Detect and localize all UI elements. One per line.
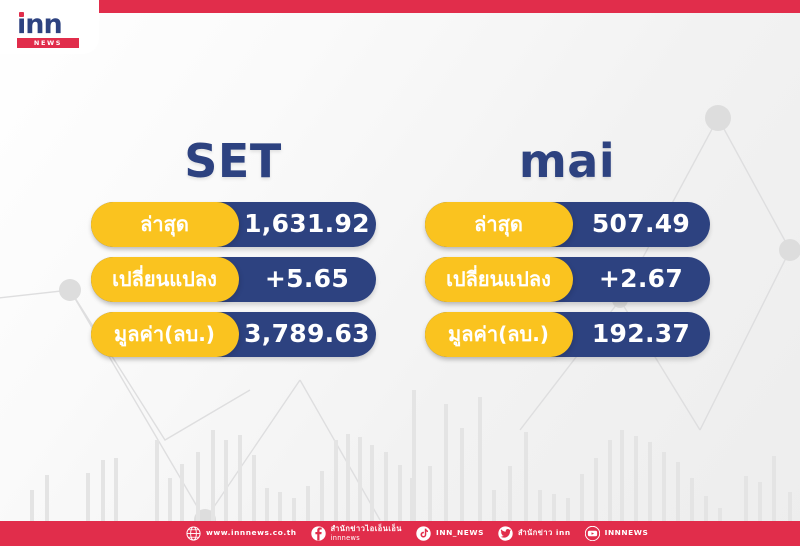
twitter-icon xyxy=(498,526,513,541)
indices-container: SET ล่าสุด 1,631.92 เปลี่ยนแปลง +5.65 มู… xyxy=(0,54,800,521)
set-value-value: 3,789.63 xyxy=(239,312,376,357)
logo-dot-icon xyxy=(19,12,24,17)
index-block-set: SET ล่าสุด 1,631.92 เปลี่ยนแปลง +5.65 มู… xyxy=(88,136,378,521)
footer-social-bar: www.innnews.co.th สำนักข่าวไอเอ็นเอ็นinn… xyxy=(0,521,800,546)
logo-plate: inn NEWS xyxy=(0,0,99,54)
logo-wordmark: inn xyxy=(17,13,79,37)
social-facebook-label: สำนักข่าวไอเอ็นเอ็นinnnews xyxy=(331,525,402,542)
inn-news-logo: inn NEWS xyxy=(17,13,79,46)
social-twitter[interactable]: สำนักข่าว inn xyxy=(498,521,571,546)
social-facebook[interactable]: สำนักข่าวไอเอ็นเอ็นinnnews xyxy=(311,521,402,546)
mai-label-value: มูลค่า(ลบ.) xyxy=(425,312,573,357)
mai-row-change: เปลี่ยนแปลง +2.67 xyxy=(425,257,710,302)
social-tiktok[interactable]: INN_NEWS xyxy=(416,521,484,546)
mai-value-value: 192.37 xyxy=(573,312,710,357)
social-youtube[interactable]: INNNEWS xyxy=(585,521,649,546)
social-website-label: www.innnews.co.th xyxy=(206,529,297,538)
social-twitter-label: สำนักข่าว inn xyxy=(518,529,571,538)
mai-row-value: มูลค่า(ลบ.) 192.37 xyxy=(425,312,710,357)
index-title-set: SET xyxy=(184,136,281,186)
market-summary-card: inn NEWS SET ล่าสุด 1,631.92 เปลี่ยนแปลง… xyxy=(0,0,800,546)
set-label-change: เปลี่ยนแปลง xyxy=(91,257,239,302)
youtube-icon xyxy=(585,526,600,541)
globe-icon xyxy=(186,526,201,541)
social-website[interactable]: www.innnews.co.th xyxy=(186,521,297,546)
set-row-last: ล่าสุด 1,631.92 xyxy=(91,202,376,247)
facebook-icon xyxy=(311,526,326,541)
tiktok-icon xyxy=(416,526,431,541)
set-label-last: ล่าสุด xyxy=(91,202,239,247)
social-youtube-label: INNNEWS xyxy=(605,529,649,538)
set-row-value: มูลค่า(ลบ.) 3,789.63 xyxy=(91,312,376,357)
set-label-value: มูลค่า(ลบ.) xyxy=(91,312,239,357)
mai-label-change: เปลี่ยนแปลง xyxy=(425,257,573,302)
social-tiktok-label: INN_NEWS xyxy=(436,529,484,538)
mai-label-last: ล่าสุด xyxy=(425,202,573,247)
set-value-change: +5.65 xyxy=(239,257,376,302)
top-accent-bar xyxy=(0,0,800,13)
set-row-change: เปลี่ยนแปลง +5.65 xyxy=(91,257,376,302)
set-value-last: 1,631.92 xyxy=(239,202,376,247)
social-facebook-sublabel: innnews xyxy=(331,534,402,543)
index-block-mai: mai ล่าสุด 507.49 เปลี่ยนแปลง +2.67 มูลค… xyxy=(422,136,712,521)
mai-row-last: ล่าสุด 507.49 xyxy=(425,202,710,247)
index-title-mai: mai xyxy=(519,136,615,186)
mai-value-change: +2.67 xyxy=(573,257,710,302)
mai-value-last: 507.49 xyxy=(573,202,710,247)
